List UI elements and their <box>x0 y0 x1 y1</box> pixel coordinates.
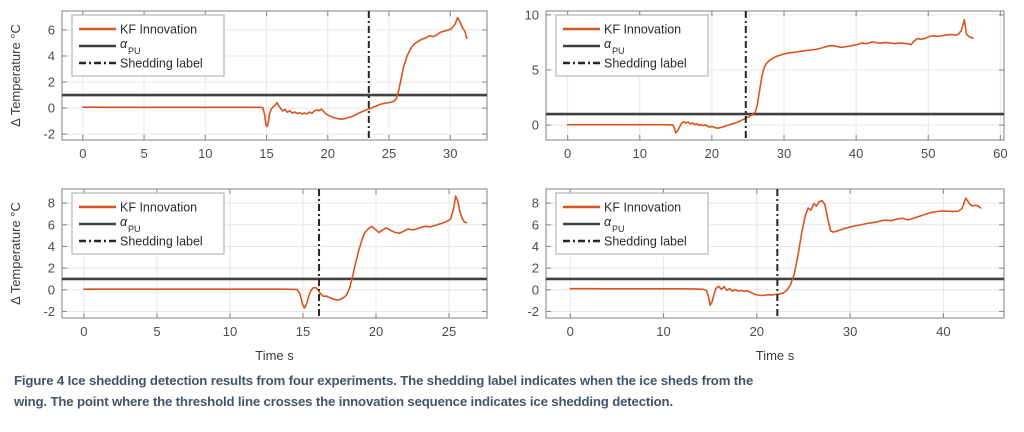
legend-label-alpha-pu-subscript: PU <box>128 46 141 56</box>
y-tick-label: 2 <box>532 261 539 276</box>
x-tick-label: 20 <box>705 146 719 161</box>
plot-panel-bottom-left: 0510152025-202468Δ Temperature °CTime sK… <box>0 178 508 368</box>
y-tick-label: 6 <box>48 22 55 37</box>
legend-label-shedding: Shedding label <box>120 57 203 71</box>
y-tick-label: 10 <box>525 7 539 22</box>
chart-legend: KF InnovationαPUShedding label <box>556 193 708 254</box>
y-tick-label: 2 <box>48 261 55 276</box>
legend-label-alpha-pu-subscript: PU <box>612 224 625 234</box>
legend-label-kf-innovation: KF Innovation <box>120 201 197 215</box>
plot-panel-top-right: 01020304050600510KF InnovationαPUSheddin… <box>508 0 1024 178</box>
x-tick-label: 10 <box>656 324 670 339</box>
y-tick-label: -2 <box>43 127 55 142</box>
y-tick-label: 8 <box>532 196 539 211</box>
x-tick-label: 5 <box>140 146 147 161</box>
legend-label-alpha-pu: α <box>120 215 128 229</box>
y-tick-label: 6 <box>532 217 539 232</box>
x-tick-label: 15 <box>296 324 310 339</box>
legend-label-kf-innovation: KF Innovation <box>604 23 681 37</box>
x-tick-label: 0 <box>79 146 86 161</box>
x-tick-label: 10 <box>633 146 647 161</box>
y-tick-label: 0 <box>48 282 55 297</box>
x-tick-label: 0 <box>567 324 574 339</box>
chart-panel-bottom-left: 0510152025-202468Δ Temperature °CTime sK… <box>0 178 508 368</box>
x-tick-label: 20 <box>369 324 383 339</box>
x-tick-label: 30 <box>843 324 857 339</box>
chart-legend: KF InnovationαPUShedding label <box>72 15 224 76</box>
x-tick-label: 50 <box>921 146 935 161</box>
y-axis-title: Δ Temperature °C <box>8 202 23 305</box>
x-tick-label: 30 <box>443 146 457 161</box>
figure-caption-line-2: wing. The point where the threshold line… <box>14 391 1010 412</box>
legend-label-kf-innovation: KF Innovation <box>604 201 681 215</box>
chart-panel-top-right: 01020304050600510KF InnovationαPUSheddin… <box>508 0 1024 178</box>
y-tick-label: 4 <box>532 239 539 254</box>
figure-4-container: 051015202530-20246Δ Temperature °CKF Inn… <box>0 0 1024 432</box>
chart-legend: KF InnovationαPUShedding label <box>556 15 708 76</box>
x-tick-label: 30 <box>777 146 791 161</box>
y-tick-label: 4 <box>48 48 55 63</box>
legend-label-alpha-pu: α <box>120 37 128 51</box>
x-tick-label: 10 <box>198 146 212 161</box>
legend-label-shedding: Shedding label <box>604 57 687 71</box>
y-axis-title: Δ Temperature °C <box>8 24 23 127</box>
y-tick-label: 4 <box>48 239 55 254</box>
x-tick-label: 25 <box>382 146 396 161</box>
figure-caption-line-1: Figure 4 Ice shedding detection results … <box>14 370 1010 391</box>
x-axis-title: Time s <box>255 348 294 363</box>
y-tick-label: 6 <box>48 217 55 232</box>
x-tick-label: 25 <box>442 324 456 339</box>
legend-label-alpha-pu-subscript: PU <box>612 46 625 56</box>
y-tick-label: 0 <box>532 282 539 297</box>
y-tick-label: 0 <box>48 101 55 116</box>
legend-label-shedding: Shedding label <box>604 235 687 249</box>
y-tick-label: 0 <box>532 118 539 133</box>
x-tick-label: 0 <box>80 324 87 339</box>
y-tick-label: 5 <box>532 62 539 77</box>
legend-label-alpha-pu-subscript: PU <box>128 224 141 234</box>
x-tick-label: 15 <box>259 146 273 161</box>
chart-panel-bottom-right: 010203040-202468Time sKF InnovationαPUSh… <box>508 178 1024 368</box>
y-tick-label: -2 <box>43 304 55 319</box>
x-tick-label: 40 <box>936 324 950 339</box>
y-tick-label: 2 <box>48 75 55 90</box>
legend-label-shedding: Shedding label <box>120 235 203 249</box>
y-tick-label: -2 <box>527 304 539 319</box>
x-tick-label: 0 <box>564 146 571 161</box>
x-tick-label: 40 <box>849 146 863 161</box>
chart-legend: KF InnovationαPUShedding label <box>72 193 224 254</box>
legend-label-alpha-pu: α <box>604 37 612 51</box>
y-tick-label: 8 <box>48 196 55 211</box>
x-tick-label: 60 <box>993 146 1007 161</box>
x-axis-title: Time s <box>756 348 795 363</box>
x-tick-label: 20 <box>321 146 335 161</box>
legend-label-kf-innovation: KF Innovation <box>120 23 197 37</box>
plot-panel-bottom-right: 010203040-202468Time sKF InnovationαPUSh… <box>508 178 1024 368</box>
figure-caption: Figure 4 Ice shedding detection results … <box>14 370 1010 412</box>
plot-panel-top-left: 051015202530-20246Δ Temperature °CKF Inn… <box>0 0 508 178</box>
x-tick-label: 5 <box>153 324 160 339</box>
legend-label-alpha-pu: α <box>604 215 612 229</box>
x-tick-label: 10 <box>223 324 237 339</box>
chart-panel-top-left: 051015202530-20246Δ Temperature °CKF Inn… <box>0 0 508 178</box>
x-tick-label: 20 <box>750 324 764 339</box>
